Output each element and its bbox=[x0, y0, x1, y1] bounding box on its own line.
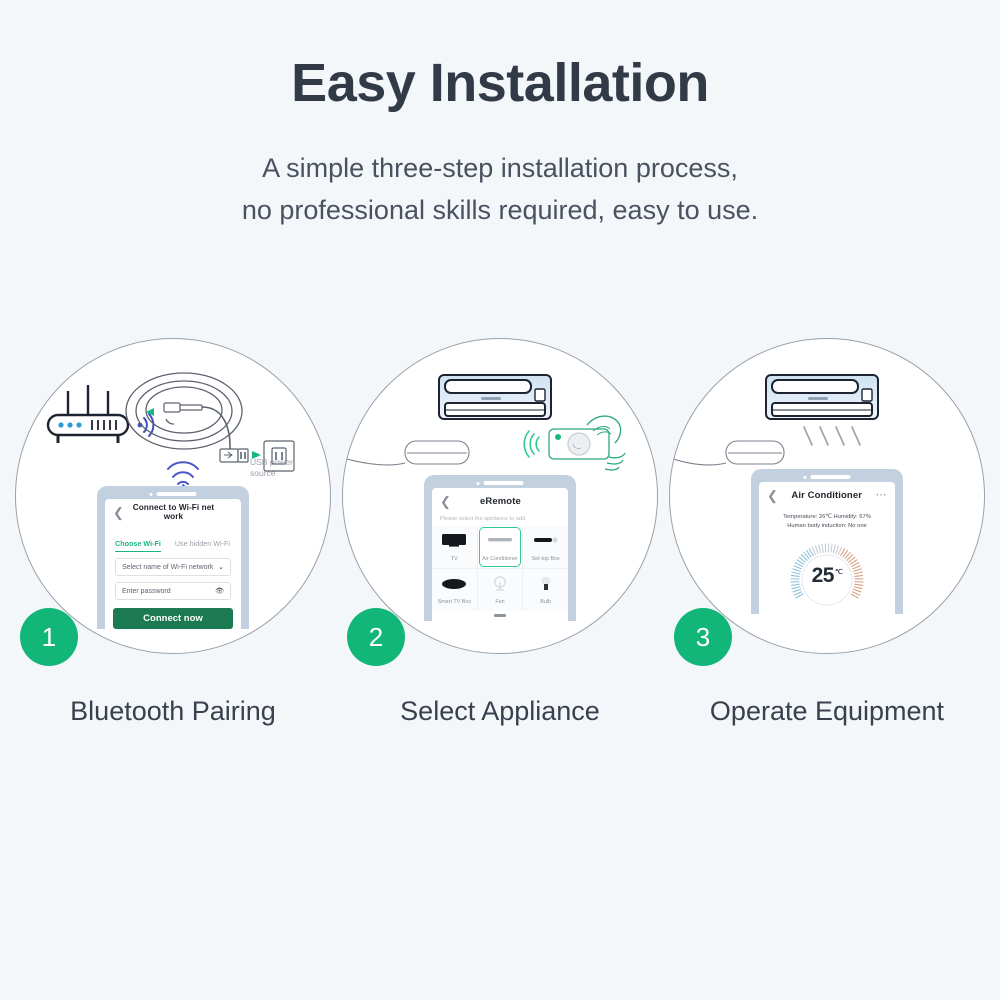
appliance-label: Fan bbox=[495, 599, 504, 605]
temperature-dial[interactable]: 25℃ bbox=[783, 536, 871, 614]
smart-hub-icon bbox=[126, 373, 242, 449]
appliance-tile-bulb[interactable]: Bulb bbox=[523, 569, 568, 611]
step-1-badge: 1 bbox=[20, 608, 78, 666]
eye-icon[interactable]: 👁 bbox=[215, 587, 224, 595]
appliance-tile-fan[interactable]: Fan bbox=[478, 569, 523, 611]
step-2-phone: ❮ eRemote Please select the appliance to… bbox=[424, 475, 576, 621]
step-1-label: Bluetooth Pairing bbox=[14, 696, 332, 727]
wifi-setup-screen: ❮ Connect to Wi-Fi net work Choose Wi-Fi… bbox=[105, 499, 241, 629]
step-3-badge: 3 bbox=[674, 608, 732, 666]
page-subtitle: A simple three-step installation process… bbox=[0, 148, 1000, 232]
sofa-icon bbox=[343, 441, 469, 465]
step-2-label: Select Appliance bbox=[341, 696, 659, 727]
dial-unit: ℃ bbox=[835, 569, 842, 576]
step-2-circle: ❮ eRemote Please select the appliance to… bbox=[342, 338, 658, 654]
ac-status-line-1: Temperature: 26℃ Humidity: 67% bbox=[763, 513, 891, 522]
smart-tv-box-icon bbox=[441, 576, 467, 596]
wifi-tabs: Choose Wi-Fi Use hidden Wi-Fi bbox=[105, 525, 241, 552]
appliance-tile-air-conditioner[interactable]: Air Conditioner bbox=[478, 526, 523, 568]
dial-temperature-value: 25℃ bbox=[783, 564, 871, 588]
ac-status: Temperature: 26℃ Humidity: 67% Human bod… bbox=[759, 508, 895, 532]
phone-notch bbox=[150, 492, 197, 496]
tab-use-hidden-wifi[interactable]: Use hidden Wi-Fi bbox=[175, 539, 230, 552]
step-1-circle: USB power source ❮ Connect to Wi-Fi net … bbox=[15, 338, 331, 654]
wifi-password-placeholder: Enter password bbox=[122, 588, 171, 595]
phone-home-indicator bbox=[432, 611, 568, 621]
appliance-label: Smart TV Box bbox=[438, 599, 471, 605]
screen-titlebar: ❮ Air Conditioner ⋯ bbox=[759, 482, 895, 508]
wifi-router-icon bbox=[48, 385, 128, 443]
page-title: Easy Installation bbox=[0, 52, 1000, 114]
eremote-screen: ❮ eRemote Please select the appliance to… bbox=[432, 488, 568, 621]
step-1-phone: ❮ Connect to Wi-Fi net work Choose Wi-Fi… bbox=[97, 486, 249, 629]
screen-title: Connect to Wi-Fi net work bbox=[124, 503, 223, 521]
air-conditioner-icon bbox=[439, 375, 551, 419]
air-conditioner-icon bbox=[487, 533, 513, 553]
step-3-circle: ❮ Air Conditioner ⋯ Temperature: 26℃ Hum… bbox=[669, 338, 985, 654]
step-3-label: Operate Equipment bbox=[668, 696, 986, 727]
usb-plug-icon bbox=[220, 449, 248, 462]
hand-holding-remote-icon bbox=[549, 416, 625, 470]
phone-notch bbox=[804, 475, 851, 479]
appliance-hint: Please select the appliance to add bbox=[432, 514, 568, 526]
connect-now-button[interactable]: Connect now bbox=[113, 608, 233, 629]
subtitle-line-1: A simple three-step installation process… bbox=[0, 148, 1000, 190]
step-1: USB power source ❮ Connect to Wi-Fi net … bbox=[14, 338, 332, 676]
ac-status-line-2: Human body induction: No one bbox=[763, 522, 891, 531]
appliance-tile-set-top-box[interactable]: Set-top Box bbox=[523, 526, 568, 568]
step-2-badge: 2 bbox=[347, 608, 405, 666]
chevron-left-icon[interactable]: ❮ bbox=[440, 495, 451, 508]
usb-power-source-label: USB power source bbox=[250, 457, 293, 478]
step-3-phone: ❮ Air Conditioner ⋯ Temperature: 26℃ Hum… bbox=[751, 469, 903, 614]
appliance-tile-smart-tv-box[interactable]: Smart TV Box bbox=[432, 569, 477, 611]
appliance-label: Air Conditioner bbox=[482, 556, 518, 562]
appliance-tile-tv[interactable]: TV bbox=[432, 526, 477, 568]
appliance-label: Set-top Box bbox=[532, 556, 560, 562]
chevron-down-icon[interactable]: ⌄ bbox=[218, 563, 224, 571]
screen-titlebar: ❮ Connect to Wi-Fi net work bbox=[105, 499, 241, 525]
airflow-lines-icon bbox=[804, 427, 860, 445]
wifi-password-input[interactable]: Enter password 👁 bbox=[115, 582, 231, 600]
appliance-label: Bulb bbox=[540, 599, 551, 605]
screen-title: eRemote bbox=[451, 496, 550, 507]
tab-choose-wifi[interactable]: Choose Wi-Fi bbox=[115, 539, 161, 552]
air-conditioner-icon bbox=[766, 375, 878, 419]
chevron-left-icon[interactable]: ❮ bbox=[113, 506, 124, 519]
set-top-box-icon bbox=[533, 533, 559, 553]
air-conditioner-control-screen: ❮ Air Conditioner ⋯ Temperature: 26℃ Hum… bbox=[759, 482, 895, 614]
chevron-left-icon[interactable]: ❮ bbox=[767, 489, 778, 502]
bulb-icon bbox=[533, 576, 559, 596]
wifi-network-select[interactable]: Select name of Wi-Fi network ⌄ bbox=[115, 558, 231, 576]
usb-cable-icon bbox=[164, 403, 230, 449]
subtitle-line-2: no professional skills required, easy to… bbox=[0, 190, 1000, 232]
more-dots-icon[interactable]: ⋯ bbox=[876, 490, 888, 501]
steps-row: USB power source ❮ Connect to Wi-Fi net … bbox=[0, 338, 1000, 678]
tv-icon bbox=[441, 533, 467, 553]
step-3: ❮ Air Conditioner ⋯ Temperature: 26℃ Hum… bbox=[668, 338, 986, 676]
step-2: ❮ eRemote Please select the appliance to… bbox=[341, 338, 659, 676]
wifi-network-value: Select name of Wi-Fi network bbox=[122, 564, 213, 571]
ir-signal-icon bbox=[524, 431, 539, 457]
appliance-label: TV bbox=[451, 556, 458, 562]
sofa-icon bbox=[670, 441, 784, 465]
page-header: Easy Installation A simple three-step in… bbox=[0, 0, 1000, 232]
screen-titlebar: ❮ eRemote bbox=[432, 488, 568, 514]
appliance-grid: TV Air Conditioner bbox=[432, 526, 568, 611]
fan-icon bbox=[487, 576, 513, 596]
screen-title: Air Conditioner bbox=[778, 490, 876, 501]
phone-notch bbox=[477, 481, 524, 485]
